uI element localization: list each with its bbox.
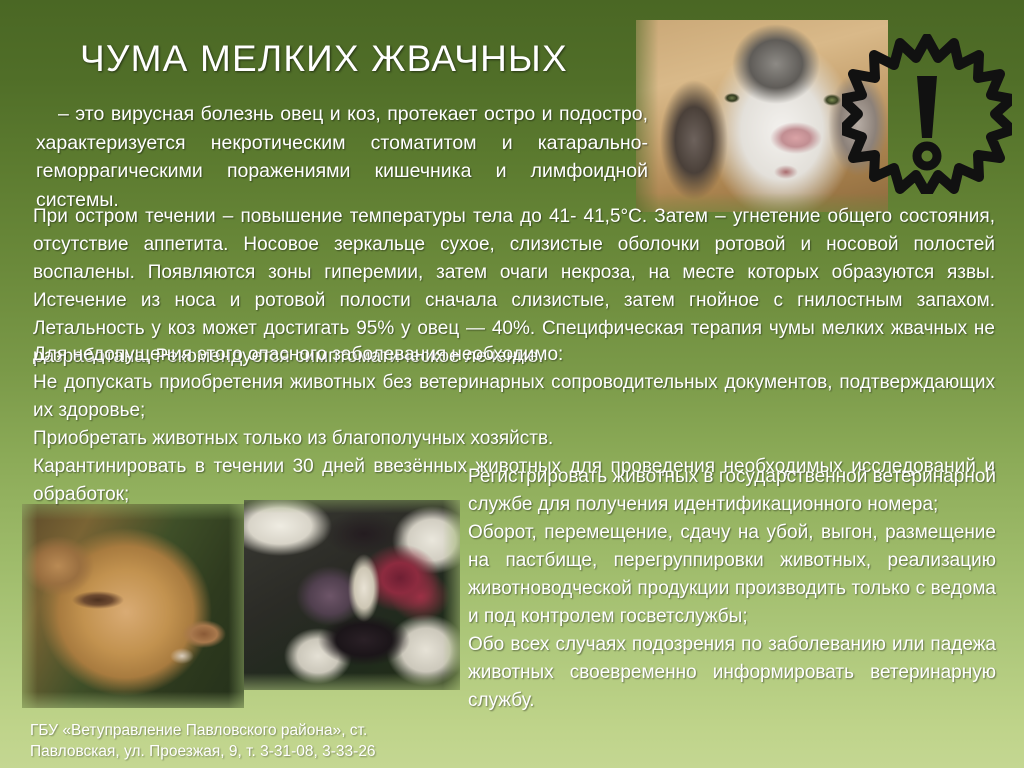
page-title: ЧУМА МЕЛКИХ ЖВАЧНЫХ <box>80 38 568 80</box>
footer-line-address: Павловская, ул. Проезжая, 9, т. 3-31-08,… <box>30 741 450 762</box>
intro-paragraph: – это вирусная болезнь овец и коз, проте… <box>36 100 648 214</box>
measure-item: Приобретать животных только из благополу… <box>33 425 995 453</box>
alert-starburst-icon <box>842 34 1012 194</box>
prevention-measures-right-block: Регистрировать животных в государственно… <box>468 463 996 715</box>
measure-item: Обо всех случаях подозрения по заболеван… <box>468 631 996 715</box>
measure-item: Регистрировать животных в государственно… <box>468 463 996 519</box>
measure-item: Не допускать приобретения животных без в… <box>33 369 995 425</box>
gloved-hands-diseased-mouth-photo <box>244 500 460 690</box>
exclamation-mark-glyph <box>917 76 937 166</box>
measure-item: Оборот, перемещение, сдачу на убой, выго… <box>468 519 996 631</box>
brown-goat-head-profile-photo <box>22 504 244 708</box>
measures-heading: Для недопущения этого опасного заболеван… <box>33 341 995 369</box>
footer-contact-info: ГБУ «Ветуправление Павловского района», … <box>30 720 450 762</box>
footer-line-organization: ГБУ «Ветуправление Павловского района», … <box>30 720 450 741</box>
presentation-slide: ЧУМА МЕЛКИХ ЖВАЧНЫХ – это вирусная болез… <box>0 0 1024 768</box>
